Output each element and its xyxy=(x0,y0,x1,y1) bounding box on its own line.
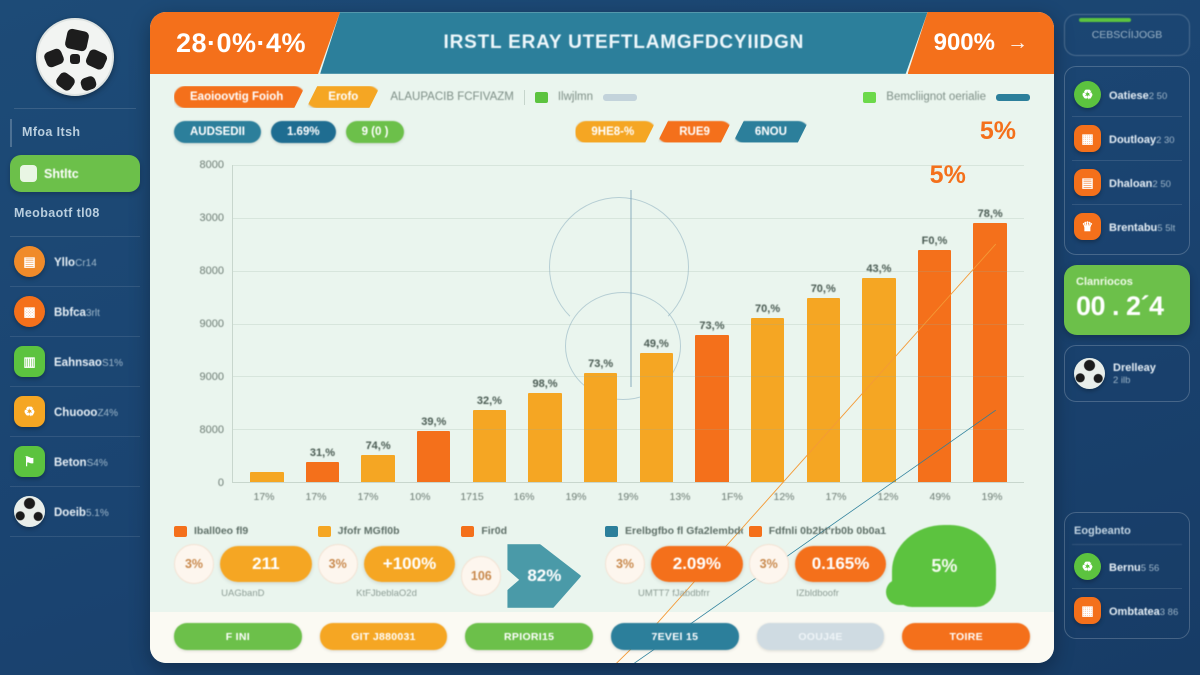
book-icon: ▥ xyxy=(14,346,45,377)
list-item-label: Doutloay xyxy=(1109,134,1156,146)
bar[interactable] xyxy=(361,455,394,482)
sidebar-item-sub: 3rlt xyxy=(86,308,100,319)
stat-legend: Erelbgfbo fl Gfa2lembdctaM xyxy=(605,525,743,537)
bar[interactable] xyxy=(473,410,506,482)
header-right-metric[interactable]: 900% → xyxy=(908,12,1054,74)
filter-pill[interactable]: 9HE8-% xyxy=(575,121,656,143)
right-group-1: ♻Oatiese2 50▦Doutloay2 30▤Dhaloan2 50♛Br… xyxy=(1064,66,1190,255)
list-item-text: Brentabu5 5lt xyxy=(1109,218,1175,236)
sidebar-item-label: Chuooo xyxy=(54,407,97,419)
left-sidebar: Mfoa Itsh Shtltc Meobaotf tl08 ▤YlloCr14… xyxy=(0,0,150,675)
legend-swatch xyxy=(174,526,187,537)
card-header: 28·0%·4% IRSTL ERAY UTEFTLAMGFDCYIIDGN 9… xyxy=(150,12,1054,74)
y-axis-tick: 3000 xyxy=(200,212,224,224)
list-item-sub: 2 50 xyxy=(1149,91,1168,102)
stat-sub-label: UMTT7 fJabdbfrr xyxy=(605,588,743,599)
bar[interactable] xyxy=(306,462,339,482)
coin-icon: ▤ xyxy=(14,246,45,277)
bar[interactable] xyxy=(584,373,617,482)
sidebar-item-list: ▤YlloCr14▩Bbfca3rlt▥EahnsaoS1%♻ChuoooZ4%… xyxy=(10,236,140,537)
stat-item: Iball0eo fl93%211UAGbanD xyxy=(174,525,312,599)
list-item[interactable]: ♻Oatiese2 50 xyxy=(1072,73,1182,117)
legend-swatch xyxy=(749,526,762,537)
stat-ring-value: 3% xyxy=(174,544,214,584)
list-item[interactable]: ▦Ombtatea3 86 xyxy=(1072,589,1182,632)
x-axis-tick: 10% xyxy=(394,485,446,513)
x-axis-tick: 19% xyxy=(966,485,1018,513)
bar[interactable] xyxy=(250,472,283,482)
list-item-sub: 3 86 xyxy=(1160,607,1179,618)
stat-body: 3%+100% xyxy=(318,544,456,584)
sidebar-item-chuooo[interactable]: ♻ChuoooZ4% xyxy=(10,387,140,437)
bar-value-label: 74,% xyxy=(366,440,391,452)
stat-body: 3%2.09% xyxy=(605,544,743,584)
legend-swatch xyxy=(863,92,876,103)
gridline xyxy=(233,376,1024,377)
stat-body: 10682% xyxy=(461,544,599,608)
legend-line xyxy=(603,94,637,101)
legend-swatch xyxy=(318,526,331,537)
gridline xyxy=(233,429,1024,430)
stat-ring-value: 3% xyxy=(749,544,789,584)
action-button[interactable]: TOIRE xyxy=(902,623,1030,650)
right-sidebar: CEBSCÍIJOGB ♻Oatiese2 50▦Doutloay2 30▤Dh… xyxy=(1060,0,1200,675)
bar[interactable] xyxy=(528,393,561,482)
stat-legend-label: Fdfnli 0b2bt'rb0b 0b0a1lg xyxy=(769,525,887,537)
sidebar-item-label: Yllo xyxy=(54,257,75,269)
action-button[interactable]: 7EVEl 15 xyxy=(611,623,739,650)
x-axis-tick: 1715 xyxy=(446,485,498,513)
sidebar-item-label: Beton xyxy=(54,457,87,469)
x-axis-tick: 12% xyxy=(758,485,810,513)
dashboard-root: Mfoa Itsh Shtltc Meobaotf tl08 ▤YlloCr14… xyxy=(0,0,1200,675)
list-item-label: Oatiese xyxy=(1109,90,1149,102)
legend-line xyxy=(996,94,1030,101)
header-left-metric: 28·0%·4% xyxy=(150,12,340,74)
stat-legend-label: Fir0d xyxy=(481,525,507,537)
calendar-icon: ▦ xyxy=(1074,125,1101,152)
soccer-ball-icon xyxy=(1074,358,1105,389)
sidebar-item-yllo[interactable]: ▤YlloCr14 xyxy=(10,237,140,287)
bar[interactable] xyxy=(417,431,450,482)
stat-legend-label: Jfofr MGfl0b xyxy=(338,525,400,537)
stat-legend: Iball0eo fl9 xyxy=(174,525,312,537)
flag-icon: ⚑ xyxy=(14,446,45,477)
leaf-badge[interactable]: 5% xyxy=(892,525,996,607)
bar-value-label: 43,% xyxy=(866,263,891,275)
filter-ghost-label: ALAUPACIB FCFIVAZM xyxy=(390,91,514,103)
filter-pill[interactable]: Eaoioovtig Foioh xyxy=(174,86,305,108)
list-item-label: Brentabu xyxy=(1109,222,1157,234)
bar[interactable] xyxy=(807,298,840,482)
gridline xyxy=(233,218,1024,219)
list-item-sub: 5 5lt xyxy=(1157,223,1175,234)
filter-pill[interactable]: 9 (0 ) xyxy=(346,121,405,143)
x-axis: 17%17%17%10%171516%19%19%13%1F%12%17%12%… xyxy=(232,485,1024,513)
gridline xyxy=(233,324,1024,325)
sidebar-item-label: Bbfca xyxy=(54,307,86,319)
bar-value-label: 49,% xyxy=(644,338,669,350)
stat-legend-label: Iball0eo fl9 xyxy=(194,525,248,537)
sidebar-item-text: BetonS4% xyxy=(54,453,108,471)
sidebar-item-text: ChuoooZ4% xyxy=(54,403,118,421)
divider xyxy=(14,108,136,109)
chevron-badge[interactable]: 82% xyxy=(507,544,581,608)
recycle-icon: ♻ xyxy=(1074,553,1101,580)
ticket-icon: ▩ xyxy=(14,296,45,327)
sidebar-item-sub: S1% xyxy=(102,358,123,369)
list-item-label: Dhaloan xyxy=(1109,178,1152,190)
action-button[interactable]: F INI xyxy=(174,623,302,650)
sidebar-item-active[interactable]: Shtltc xyxy=(10,155,140,192)
list-item[interactable]: ▦Doutloay2 30 xyxy=(1072,117,1182,161)
bar[interactable] xyxy=(973,223,1006,482)
stat-item: Jfofr MGfl0b3%+100%KtFJbeblaO2d xyxy=(318,525,456,599)
sidebar-item-eahnsao[interactable]: ▥EahnsaoS1% xyxy=(10,337,140,387)
stat-legend-label: Erelbgfbo fl Gfa2lembdctaM xyxy=(625,525,743,537)
right-group-2-title: Eogbeanto xyxy=(1072,519,1182,545)
stat-body: 5% xyxy=(892,525,1030,607)
legend-swatch xyxy=(605,526,618,537)
bar-value-label: 98,% xyxy=(532,378,557,390)
stat-bar-value[interactable]: 2.09% xyxy=(651,546,743,582)
y-axis-tick: 9000 xyxy=(200,318,224,330)
legend-label: Ilwjlmn xyxy=(558,91,593,103)
stat-sub-label: KtFJbeblaO2d xyxy=(318,588,456,599)
stats-row: Iball0eo fl93%211UAGbanDJfofr MGfl0b3%+1… xyxy=(150,519,1054,612)
stat-ring-value: 106 xyxy=(461,556,501,596)
legend-swatch xyxy=(535,92,548,103)
list-item[interactable]: Drelleay 2 ilb xyxy=(1072,350,1182,397)
x-axis-tick: 1F% xyxy=(706,485,758,513)
sidebar-item-doeib[interactable]: Doeib5.1% xyxy=(10,487,140,537)
list-item-sub: 2 50 xyxy=(1152,179,1171,190)
y-axis-tick: 8000 xyxy=(200,159,224,171)
dashboard-card: 28·0%·4% IRSTL ERAY UTEFTLAMGFDCYIIDGN 9… xyxy=(150,12,1054,663)
x-axis-tick: 19% xyxy=(602,485,654,513)
stat-bar-value[interactable]: 211 xyxy=(220,546,312,582)
refresh-icon: ♻ xyxy=(14,396,45,427)
page-title: IRSTL ERAY UTEFTLAMGFDCYIIDGN xyxy=(320,12,928,74)
sidebar-item-label: Eahnsao xyxy=(54,357,102,369)
list-item-text: Oatiese2 50 xyxy=(1109,86,1167,104)
action-button-bar: F INIGIT J880031RPIORI157EVEl 15OOUJ4ETO… xyxy=(150,612,1054,663)
soccer-ball-icon xyxy=(36,18,114,96)
chart-callout: 5% xyxy=(930,161,966,190)
stat-ring-value: 3% xyxy=(318,544,358,584)
sidebar-item-text: Doeib5.1% xyxy=(54,503,109,521)
list-item-text: Ombtatea3 86 xyxy=(1109,602,1178,620)
arrow-right-icon: → xyxy=(1007,31,1028,55)
list-item-label: Bernu xyxy=(1109,562,1141,574)
stat-bar-value[interactable]: +100% xyxy=(364,546,456,582)
stat-item: 5% xyxy=(892,525,1030,607)
soccer-ball-icon xyxy=(14,496,45,527)
y-axis-tick: 8000 xyxy=(200,424,224,436)
legend-label: Bemcliignot oerialie xyxy=(886,91,986,103)
plot-area: 31,%74,%39,%32,%98,%73,%49,%73,%70,%70,%… xyxy=(232,165,1024,483)
stat-legend: Fdfnli 0b2bt'rb0b 0b0a1lg xyxy=(749,525,887,537)
filter-row-1: Eaoioovtig FoiohErofoALAUPACIB FCFIVAZMI… xyxy=(174,86,1030,108)
x-axis-tick: 17% xyxy=(810,485,862,513)
sidebar-item-sub: Cr14 xyxy=(75,258,97,269)
bar-value-label: 70,% xyxy=(755,303,780,315)
filter-row-2: AUDSEDII1.69%9 (0 )9HE8-%RUE96NOU5% xyxy=(174,117,1030,146)
sidebar-item-text: EahnsaoS1% xyxy=(54,353,123,371)
grid-icon xyxy=(20,165,37,182)
stat-sub-label: IZbldboofr xyxy=(749,588,887,599)
sidebar-item-bbfca[interactable]: ▩Bbfca3rlt xyxy=(10,287,140,337)
trophy-icon: ♛ xyxy=(1074,213,1101,240)
right-group-2: Eogbeanto ♻Bernu5 56▦Ombtatea3 86 xyxy=(1064,512,1190,639)
list-item-label: Ombtatea xyxy=(1109,606,1160,618)
filter-pill[interactable]: 1.69% xyxy=(271,121,336,143)
bar-value-label: 32,% xyxy=(477,395,502,407)
bar[interactable] xyxy=(918,250,951,482)
bar-value-label: 70,% xyxy=(811,283,836,295)
sidebar-item-text: Bbfca3rlt xyxy=(54,303,100,321)
sidebar-section-title-1: Mfoa Itsh xyxy=(10,119,140,147)
chart-icon: ▤ xyxy=(1074,169,1101,196)
x-axis-tick: 17% xyxy=(342,485,394,513)
sidebar-item-sub: Z4% xyxy=(97,408,118,419)
featured-sub: 2 ilb xyxy=(1113,375,1156,386)
stat-item: Fdfnli 0b2bt'rb0b 0b0a1lg3%0.165%IZbldbo… xyxy=(749,525,887,599)
stat-item: Fir0d10682% xyxy=(461,525,599,608)
x-axis-tick: 12% xyxy=(862,485,914,513)
bar-chart: 8000300080009000900080000 31,%74,%39,%32… xyxy=(174,159,1030,519)
action-button[interactable]: GIT J880031 xyxy=(320,623,448,650)
sidebar-item-sub: S4% xyxy=(87,458,108,469)
action-button[interactable]: RPIORI15 xyxy=(465,623,593,650)
chart-area: 8000300080009000900080000 31,%74,%39,%32… xyxy=(150,159,1054,519)
featured-row[interactable]: Drelleay 2 ilb xyxy=(1064,345,1190,402)
main-content: 28·0%·4% IRSTL ERAY UTEFTLAMGFDCYIIDGN 9… xyxy=(150,0,1060,675)
bar[interactable] xyxy=(862,278,895,482)
bar-value-label: 73,% xyxy=(588,358,613,370)
sidebar-section-title-2: Meobaotf tl08 xyxy=(10,200,140,228)
x-axis-tick: 17% xyxy=(290,485,342,513)
filter-area: Eaoioovtig FoiohErofoALAUPACIB FCFIVAZMI… xyxy=(150,74,1054,159)
list-item[interactable]: ▤Dhaloan2 50 xyxy=(1072,161,1182,205)
x-axis-tick: 49% xyxy=(914,485,966,513)
stat-body: 3%0.165% xyxy=(749,544,887,584)
header-right-value: 900% xyxy=(934,29,995,57)
list-item-sub: 2 30 xyxy=(1156,135,1175,146)
calendar-icon: ▦ xyxy=(1074,597,1101,624)
list-item[interactable]: ♛Brentabu5 5lt xyxy=(1072,205,1182,248)
bar-value-label: F0,% xyxy=(922,235,948,247)
list-item-text: Bernu5 56 xyxy=(1109,558,1159,576)
bar[interactable] xyxy=(640,353,673,482)
featured-label: Drelleay xyxy=(1113,362,1156,374)
x-axis-tick: 17% xyxy=(238,485,290,513)
list-item[interactable]: ♻Bernu5 56 xyxy=(1072,545,1182,589)
stat-sub-label: UAGbanD xyxy=(174,588,312,599)
stat-card-value: 00 . 2´4 xyxy=(1076,291,1178,322)
stat-card[interactable]: Clanriocos 00 . 2´4 xyxy=(1064,265,1190,335)
bar-value-label: 73,% xyxy=(699,320,724,332)
list-item-text: Doutloay2 30 xyxy=(1109,130,1175,148)
filter-pill[interactable]: RUE9 xyxy=(657,121,732,143)
x-axis-tick: 16% xyxy=(498,485,550,513)
filter-pill[interactable]: 6NOU xyxy=(733,121,809,143)
gridline xyxy=(233,165,1024,166)
sidebar-item-sub: 5.1% xyxy=(86,508,109,519)
y-axis-tick: 8000 xyxy=(200,265,224,277)
stat-item: Erelbgfbo fl Gfa2lembdctaM3%2.09%UMTT7 f… xyxy=(605,525,743,599)
action-button[interactable]: OOUJ4E xyxy=(757,623,885,650)
sidebar-active-label: Shtltc xyxy=(44,167,79,181)
filter-pill[interactable]: AUDSEDII xyxy=(174,121,261,143)
list-item-text: Dhaloan2 50 xyxy=(1109,174,1171,192)
stat-bar-value[interactable]: 0.165% xyxy=(795,546,887,582)
stat-body: 3%211 xyxy=(174,544,312,584)
x-axis-tick: 19% xyxy=(550,485,602,513)
y-axis-tick: 9000 xyxy=(200,371,224,383)
legend-swatch xyxy=(461,526,474,537)
gridline xyxy=(233,271,1024,272)
stat-legend: Fir0d xyxy=(461,525,599,537)
stat-ring-value: 3% xyxy=(605,544,645,584)
search-input[interactable]: CEBSCÍIJOGB xyxy=(1064,14,1190,56)
sidebar-item-label: Doeib xyxy=(54,507,86,519)
y-axis-tick: 0 xyxy=(218,477,224,489)
y-axis: 8000300080009000900080000 xyxy=(174,165,232,483)
divider xyxy=(524,90,525,105)
stat-card-label: Clanriocos xyxy=(1076,276,1178,288)
sidebar-item-beton[interactable]: ⚑BetonS4% xyxy=(10,437,140,487)
list-item-sub: 5 56 xyxy=(1141,563,1160,574)
bar[interactable] xyxy=(751,318,784,482)
stat-legend: Jfofr MGfl0b xyxy=(318,525,456,537)
sidebar-item-text: YlloCr14 xyxy=(54,253,97,271)
recycle-icon: ♻ xyxy=(1074,81,1101,108)
bar[interactable] xyxy=(695,335,728,482)
x-axis-tick: 13% xyxy=(654,485,706,513)
bar-value-label: 39,% xyxy=(421,416,446,428)
filter-pill[interactable]: Erofo xyxy=(306,86,380,108)
bar-value-label: 31,% xyxy=(310,447,335,459)
filter-callout: 5% xyxy=(980,117,1030,146)
